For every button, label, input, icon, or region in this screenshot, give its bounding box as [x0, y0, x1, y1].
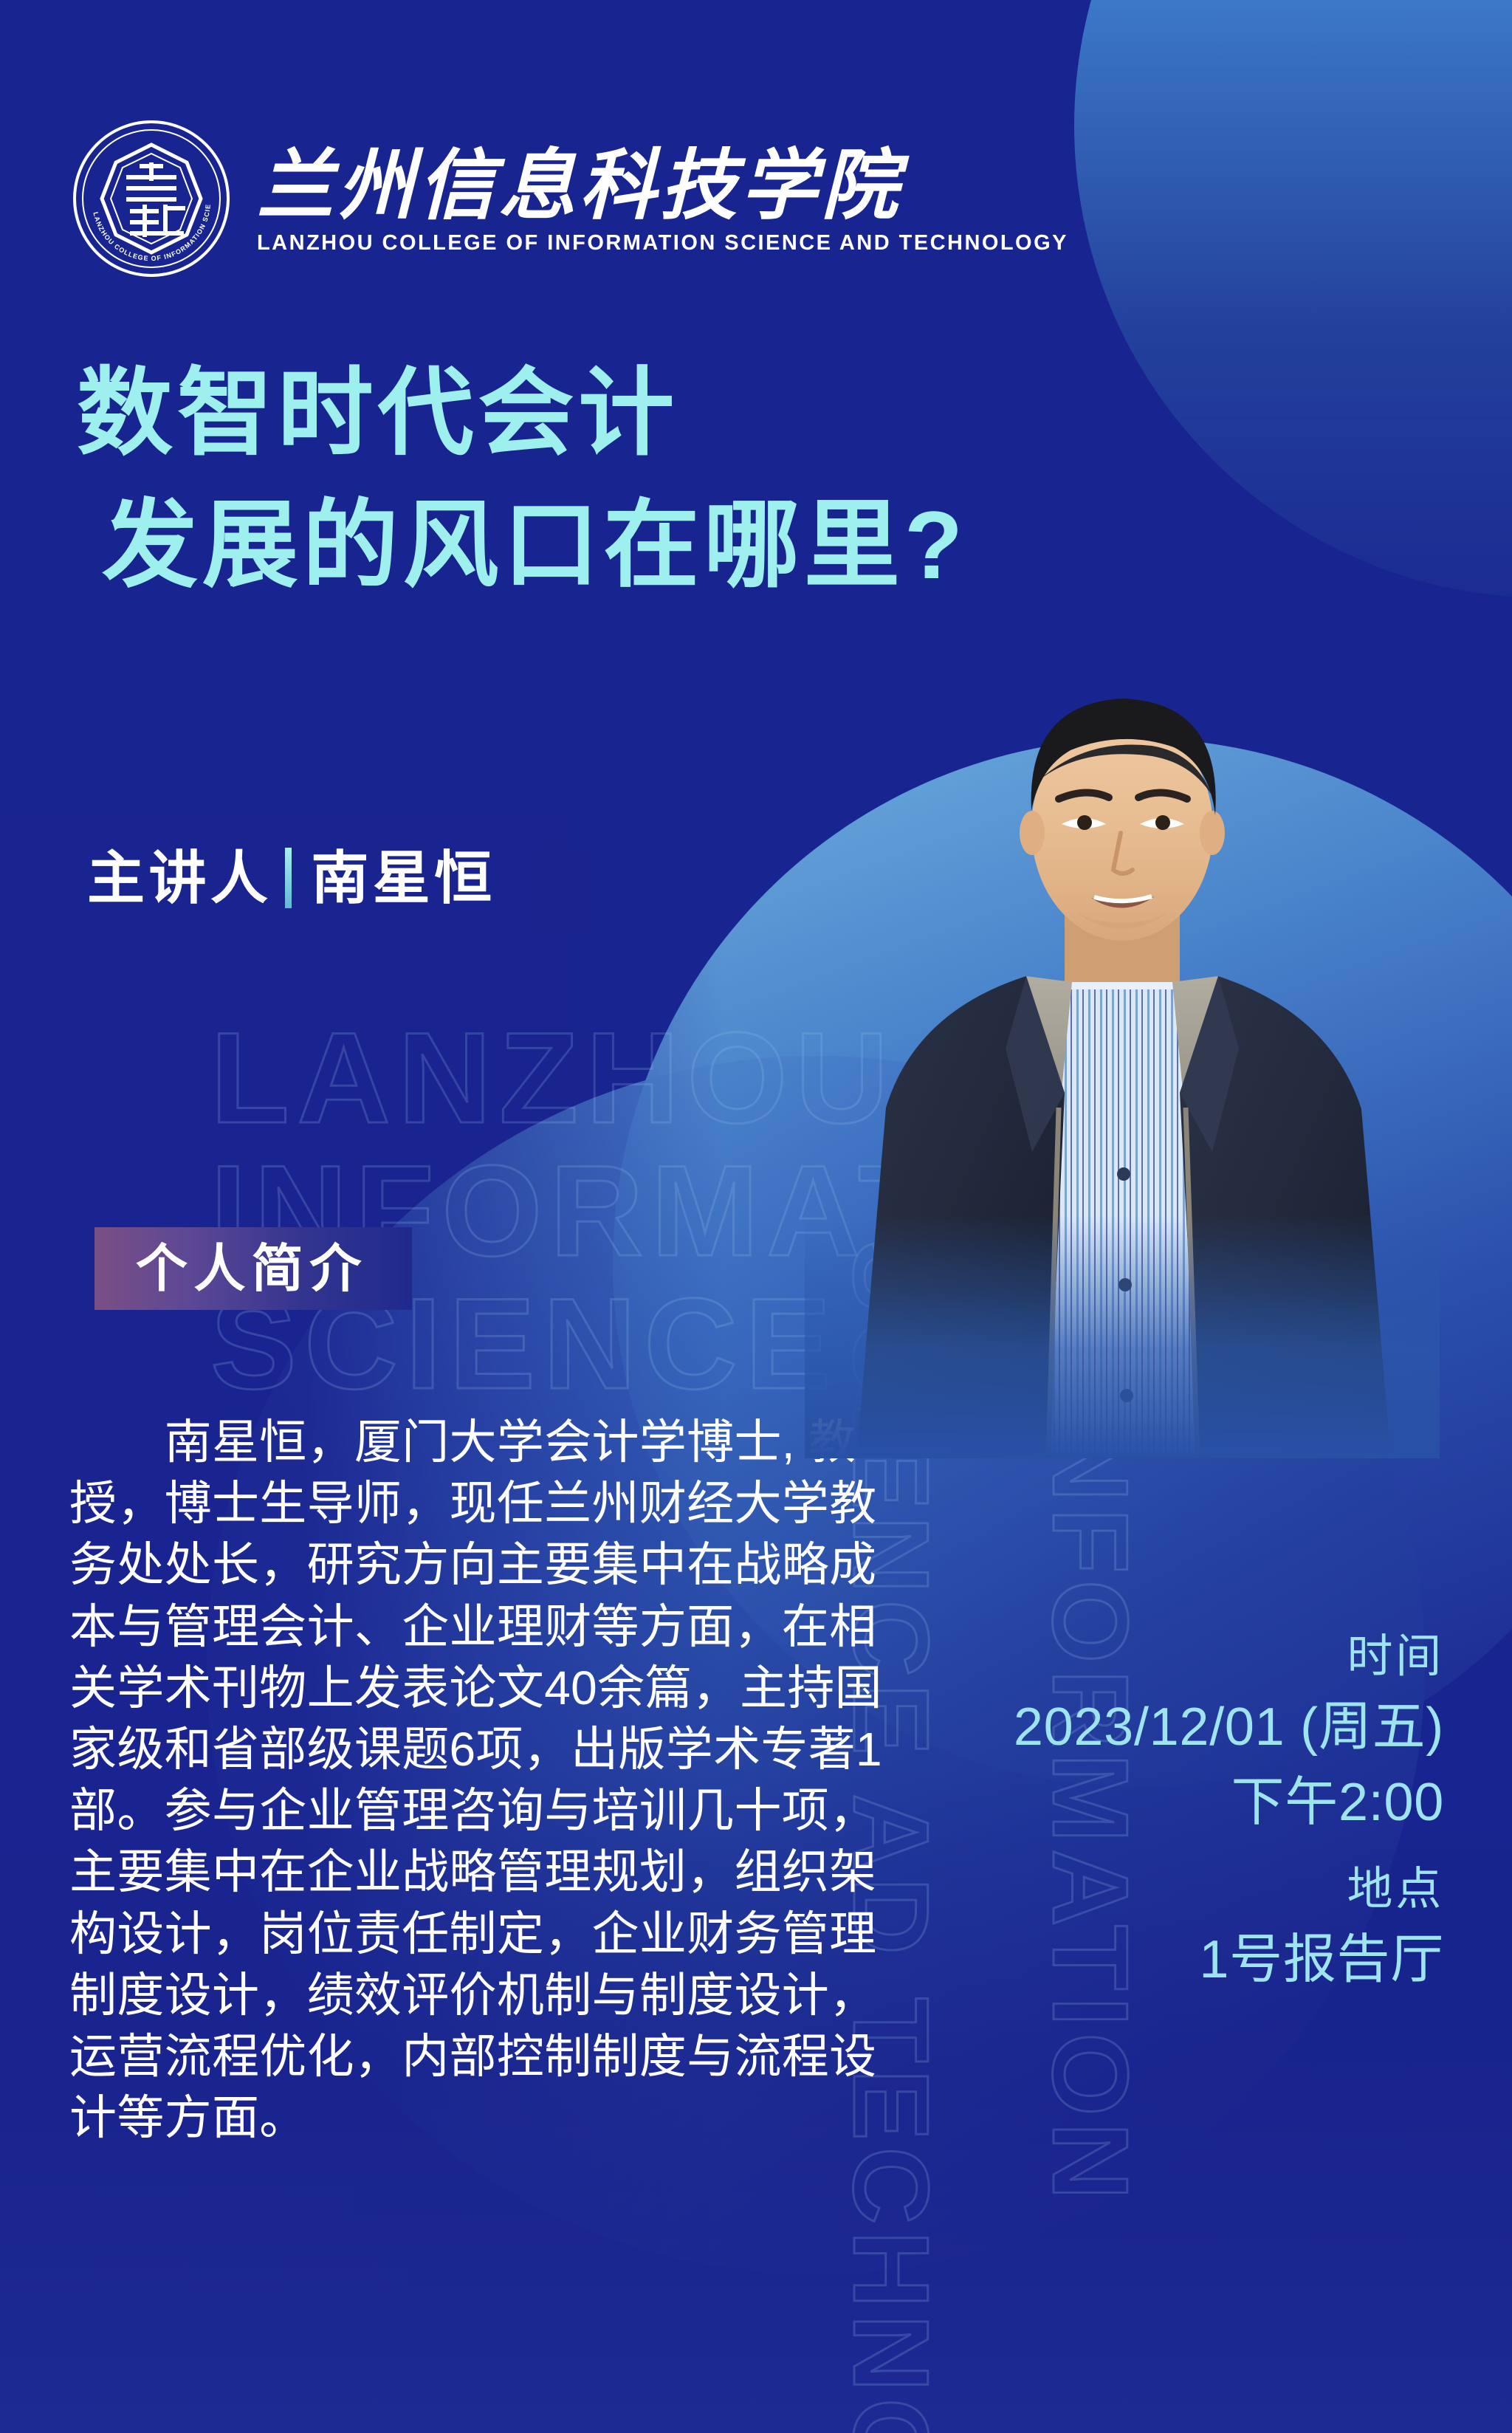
speaker-bio: 南星恒，厦门大学会计学博士, 教 授，博士生导师，现任兰州财经大学教 务处处长，…: [69, 1412, 874, 2149]
decor-circle-top-right: [1074, 0, 1512, 598]
poster-root: LANZHOU INFORMATION SCIENCE AND SCIENCE …: [0, 0, 1512, 2433]
poster-title: 数智时代会计 发展的风口在哪里?: [77, 347, 967, 612]
title-line-2: 发展的风口在哪里?: [77, 479, 967, 611]
event-time-value: 下午2:00: [1014, 1765, 1444, 1840]
bio-line: 务处处长，研究方向主要集中在战略成: [69, 1534, 874, 1596]
bio-line: 主要集中在企业战略管理规划，组织架: [69, 1842, 874, 1903]
watermark-text-lanzhou: LANZHOU: [210, 1004, 896, 1153]
bio-line: 本与管理会计、企业理财等方面，在相: [69, 1596, 874, 1658]
brand-header: LANZHOU COLLEGE OF INFORMATION SCIENCE A…: [71, 118, 1068, 279]
brand-wordmark: 兰州信息科技学院 LANZHOU COLLEGE OF INFORMATION …: [257, 144, 1068, 254]
event-spacer: [1014, 1841, 1444, 1857]
bio-line: 部。参与企业管理咨询与培训几十项，: [69, 1780, 874, 1842]
speaker-label: 主讲人: [87, 849, 272, 907]
section-banner-profile: 个人简介: [94, 1227, 412, 1310]
portrait-bottom-fade: [805, 1215, 1440, 1458]
speaker-name: 南星恒: [311, 849, 495, 907]
university-seal-emblem-icon: LANZHOU COLLEGE OF INFORMATION SCIENCE A…: [71, 118, 232, 279]
event-time-label: 时间: [1014, 1624, 1444, 1689]
event-place-label: 地点: [1014, 1857, 1444, 1922]
institution-name-en: LANZHOU COLLEGE OF INFORMATION SCIENCE A…: [257, 233, 1068, 254]
speaker-portrait: [805, 635, 1440, 1458]
bio-line: 授，博士生导师，现任兰州财经大学教: [69, 1473, 874, 1534]
title-line-1: 数智时代会计: [77, 347, 967, 479]
bio-line: 制度设计，绩效评价机制与制度设计，: [69, 1965, 874, 2026]
event-details: 时间 2023/12/01 (周五) 下午2:00 地点 1号报告厅: [1014, 1624, 1444, 1997]
speaker-divider-bar: [285, 848, 292, 908]
bio-line: 构设计，岗位责任制定，企业财务管理: [69, 1904, 874, 1965]
institution-name-cn: 兰州信息科技学院: [257, 148, 1068, 225]
bio-line: 关学术刊物上发表论文40余篇，主持国: [69, 1658, 874, 1719]
bio-line: 运营流程优化，内部控制制度与流程设: [69, 2026, 874, 2087]
bio-line: 家级和省部级课题6项，出版学术专著1: [69, 1719, 874, 1780]
event-date-value: 2023/12/01 (周五): [1014, 1689, 1444, 1765]
event-place-value: 1号报告厅: [1014, 1922, 1444, 1997]
section-banner-label: 个人简介: [136, 1243, 368, 1294]
speaker-row: 主讲人 南星恒: [87, 848, 496, 908]
bio-line: 计等方面。: [69, 2087, 874, 2149]
bio-line: 南星恒，厦门大学会计学博士, 教: [69, 1412, 874, 1473]
